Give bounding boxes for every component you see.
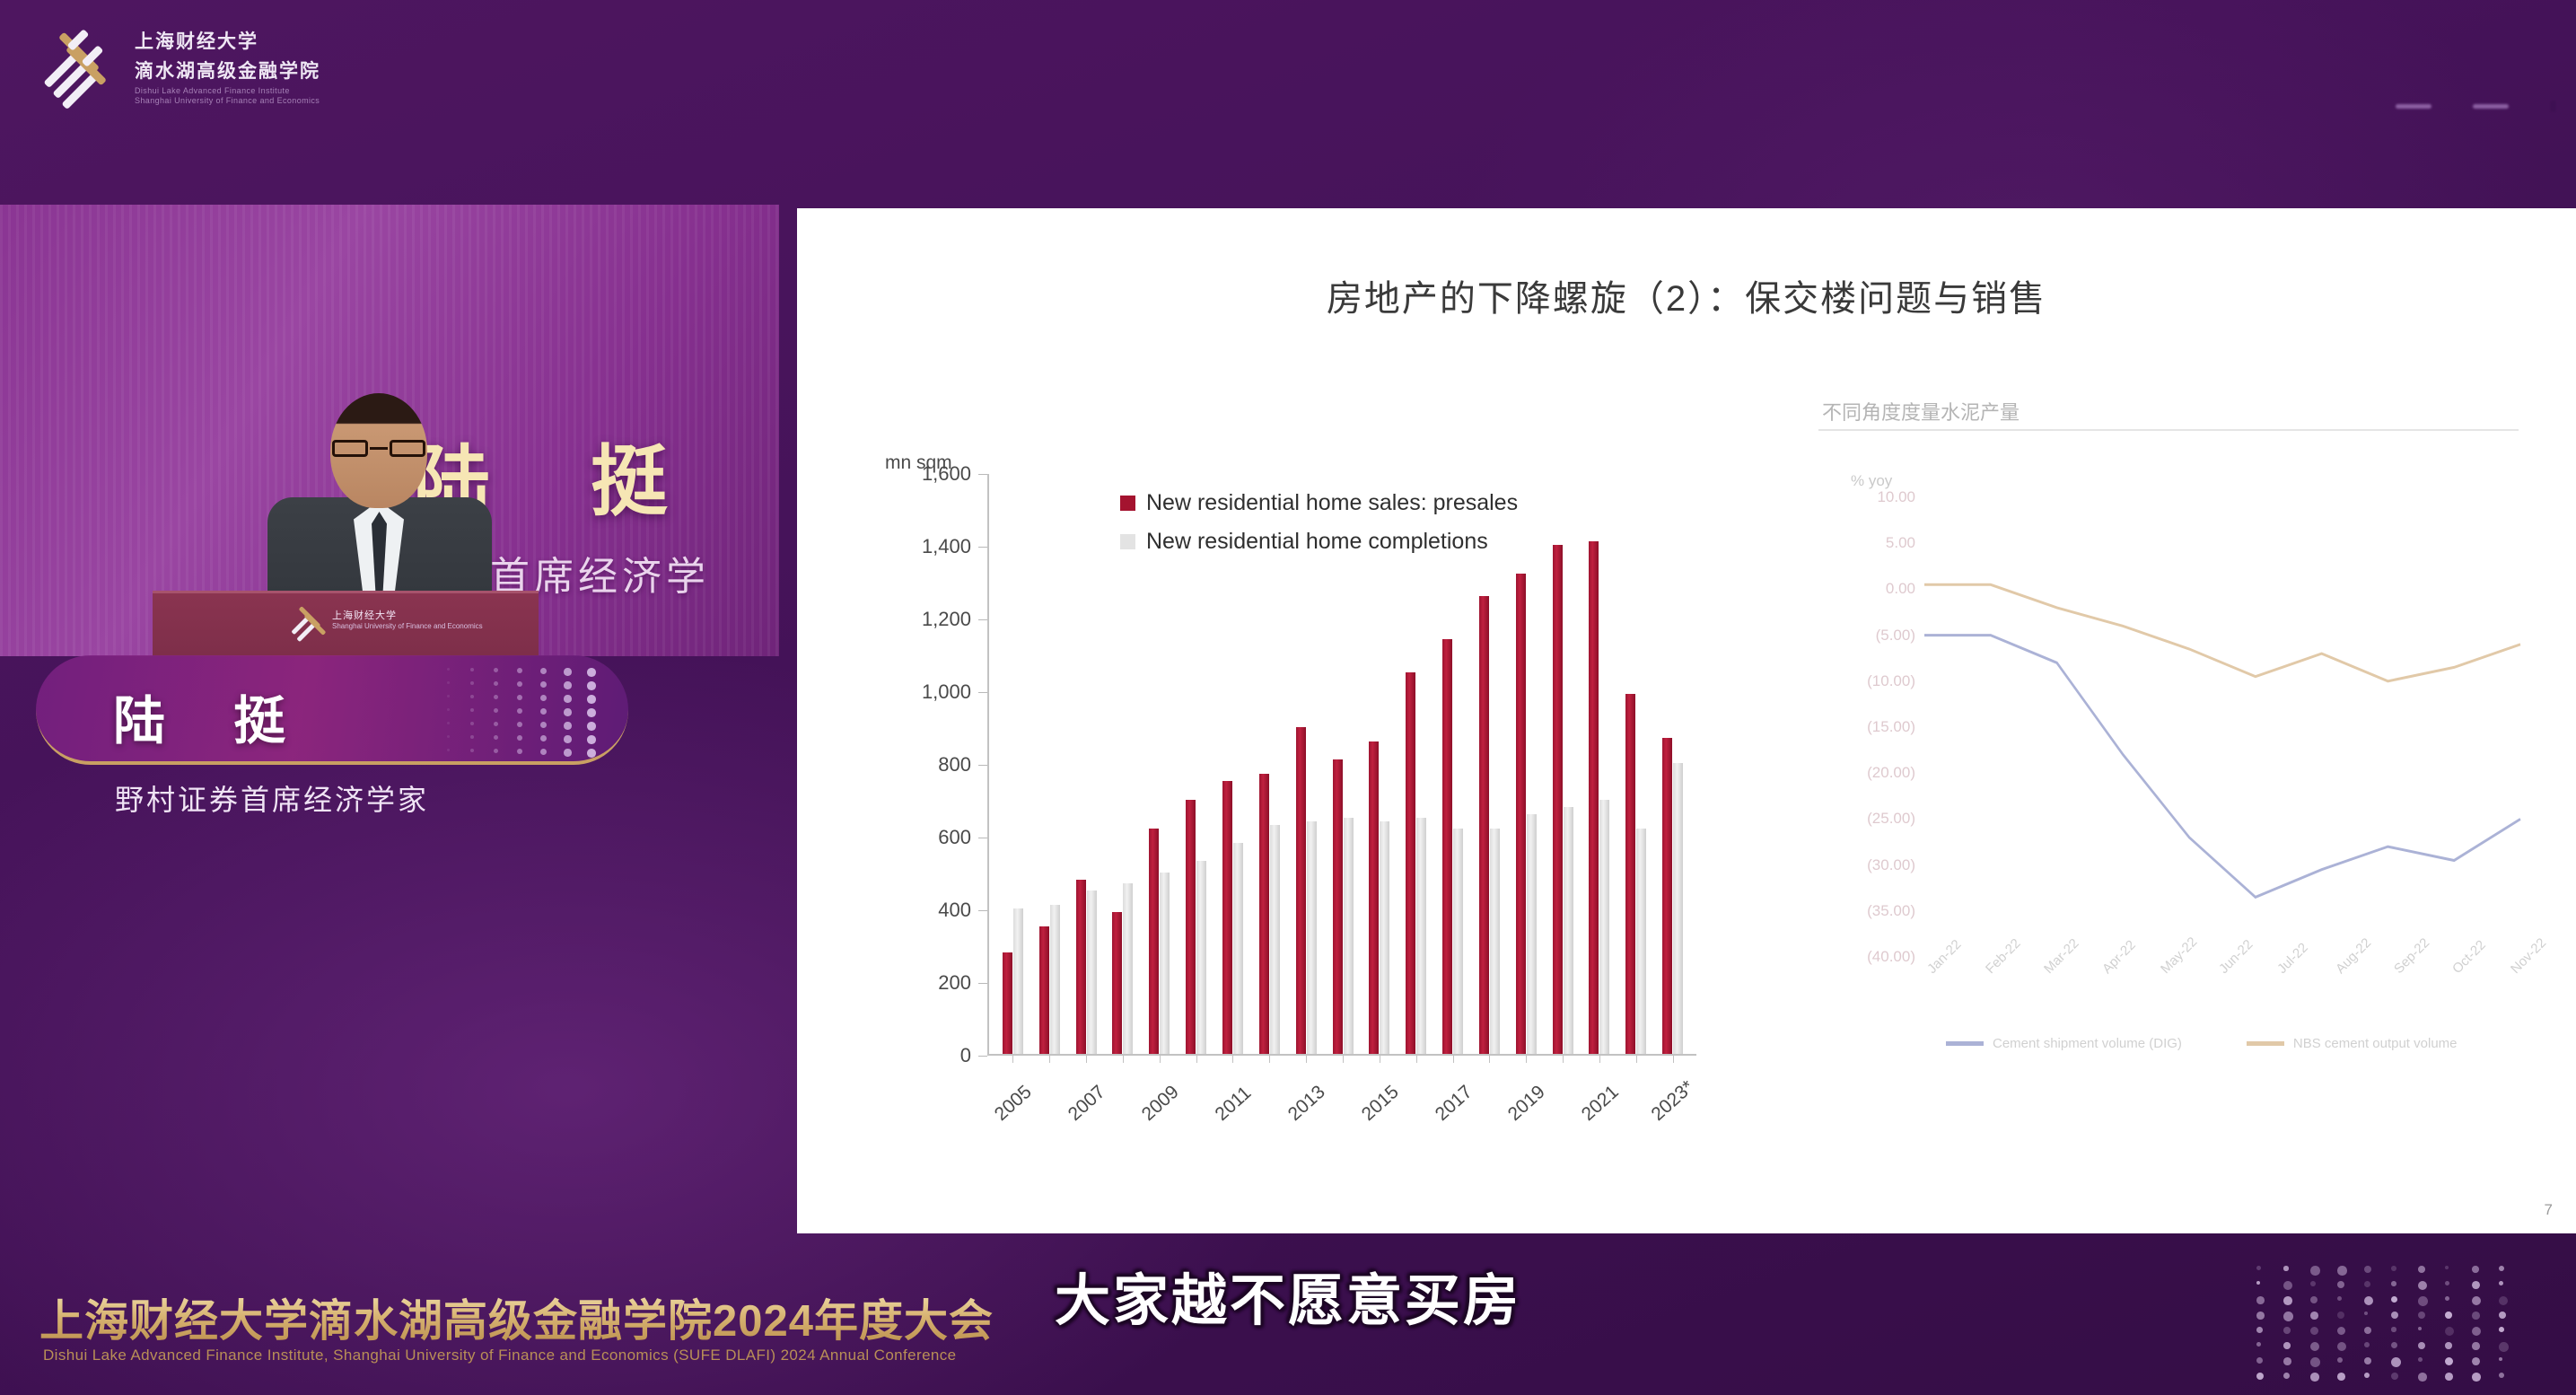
bar-completions bbox=[1344, 818, 1354, 1054]
podium: 上海财经大学 Shanghai University of Finance an… bbox=[153, 591, 539, 656]
decorative-dot bbox=[2445, 1327, 2454, 1336]
decorative-dot bbox=[494, 749, 498, 753]
bar-chart-x-tick-label: 2013 bbox=[1284, 1082, 1330, 1126]
line-chart-y-tick: 5.00 bbox=[1811, 534, 1915, 552]
glasses-icon bbox=[332, 440, 425, 458]
line-legend-swatch-shipment bbox=[1946, 1041, 1984, 1046]
line-chart-y-tick: (35.00) bbox=[1811, 902, 1915, 920]
line-chart-y-unit: % yoy bbox=[1851, 472, 1892, 490]
slide-page-number: 7 bbox=[2545, 1201, 2553, 1219]
decorative-dot bbox=[2364, 1296, 2373, 1305]
decorative-dot bbox=[2337, 1296, 2342, 1301]
decorative-dot bbox=[2472, 1342, 2480, 1350]
decorative-dot bbox=[2445, 1281, 2449, 1285]
decorative-dot bbox=[494, 722, 498, 726]
decorative-dot bbox=[2472, 1266, 2479, 1273]
line-chart-plot-area bbox=[1924, 497, 2520, 957]
decorative-dot bbox=[517, 695, 522, 700]
decorative-dot bbox=[2364, 1327, 2371, 1334]
line-chart-y-tick: (15.00) bbox=[1811, 718, 1915, 736]
decorative-dot bbox=[2445, 1342, 2452, 1349]
decorative-dot bbox=[517, 681, 522, 687]
bar-group: 2007 bbox=[1068, 474, 1105, 1054]
line-chart-y-tick: (5.00) bbox=[1811, 627, 1915, 645]
bar-chart-x-tick-label: 2005 bbox=[991, 1082, 1037, 1126]
bar-chart-x-tickmark bbox=[1489, 1055, 1490, 1063]
decorative-dot bbox=[2445, 1357, 2453, 1365]
mark-dash-2 bbox=[2473, 104, 2509, 109]
bar-chart-x-tick-label: 2007 bbox=[1065, 1082, 1110, 1126]
decorative-dot bbox=[2256, 1342, 2261, 1347]
line-chart-y-tick: (25.00) bbox=[1811, 810, 1915, 828]
decorative-dot bbox=[587, 695, 596, 704]
bar-chart-y-tick: 1,400 bbox=[860, 535, 971, 558]
decorative-top-right-marks bbox=[2396, 101, 2556, 112]
bar-chart-x-tick-label: 2011 bbox=[1212, 1083, 1257, 1126]
decorative-dot bbox=[2256, 1296, 2265, 1304]
residential-sales-bar-chart: mn sqm New residential home sales: presa… bbox=[860, 474, 1704, 1138]
bar-chart-x-tickmark bbox=[1416, 1055, 1417, 1063]
decorative-dot bbox=[2283, 1281, 2292, 1290]
decorative-dot bbox=[2418, 1281, 2427, 1290]
mark-tick bbox=[2550, 101, 2556, 112]
bar-completions bbox=[1453, 829, 1463, 1054]
decorative-dot bbox=[2391, 1357, 2401, 1367]
decorative-dot bbox=[2283, 1357, 2291, 1365]
bar-presales bbox=[1039, 926, 1049, 1054]
decorative-dot bbox=[564, 708, 572, 716]
decorative-dot bbox=[2364, 1342, 2370, 1347]
bar-chart-x-tick-label: 2021 bbox=[1578, 1082, 1624, 1126]
bar-chart-y-tick: 1,200 bbox=[860, 608, 971, 631]
bar-completions bbox=[1380, 821, 1389, 1054]
decorative-dot bbox=[447, 749, 450, 751]
bar-chart-x-tickmark bbox=[1380, 1055, 1380, 1063]
bar-chart-x-tickmark bbox=[1673, 1055, 1674, 1063]
bar-presales bbox=[1442, 639, 1452, 1054]
decorative-dot bbox=[2499, 1312, 2506, 1319]
decorative-dot bbox=[2364, 1312, 2368, 1315]
bar-presales bbox=[1076, 880, 1086, 1054]
decorative-dot bbox=[2499, 1342, 2509, 1352]
bar-chart-bars: 2005200720092011201320152017201920212023… bbox=[989, 474, 1696, 1054]
podium-logo-en: Shanghai University of Finance and Econo… bbox=[332, 622, 494, 630]
decorative-dot bbox=[2337, 1281, 2344, 1288]
bar-chart-y-tickmark bbox=[978, 910, 987, 911]
decorative-dot bbox=[2391, 1342, 2397, 1348]
bar-completions bbox=[1233, 843, 1243, 1054]
line-chart-y-tick: 0.00 bbox=[1811, 580, 1915, 598]
decorative-dot bbox=[2283, 1327, 2291, 1334]
decorative-dot bbox=[2337, 1312, 2344, 1319]
bar-chart-x-tickmark bbox=[1012, 1055, 1013, 1063]
decorative-dot bbox=[587, 749, 596, 758]
decorative-dot bbox=[2499, 1296, 2508, 1305]
decorative-dot bbox=[2283, 1266, 2289, 1271]
bar-completions bbox=[1673, 763, 1683, 1054]
bar-chart-y-tick: 400 bbox=[860, 899, 971, 922]
presentation-slide[interactable]: 房地产的下降螺旋（2）：保交楼问题与销售 7 mn sqm New reside… bbox=[797, 208, 2576, 1233]
bar-chart-x-tickmark bbox=[1160, 1055, 1161, 1063]
line-chart-title-rule bbox=[1818, 429, 2519, 431]
bar-completions bbox=[1270, 825, 1280, 1054]
decorative-dot bbox=[2418, 1327, 2422, 1330]
bar-group bbox=[1617, 474, 1654, 1054]
bar-chart-x-tick-label: 2009 bbox=[1138, 1082, 1184, 1126]
bar-group: 2009 bbox=[1141, 474, 1178, 1054]
decorative-dot bbox=[2445, 1266, 2449, 1269]
decorative-dot bbox=[494, 668, 498, 672]
decorative-dot bbox=[2472, 1312, 2480, 1320]
nameplate-speaker-name: 陆 挺 bbox=[113, 679, 312, 754]
decorative-dot bbox=[2391, 1312, 2398, 1319]
decorative-dot bbox=[2310, 1266, 2320, 1276]
decorative-dot bbox=[517, 735, 522, 741]
line-chart-y-tick: (20.00) bbox=[1811, 764, 1915, 782]
decorative-dot bbox=[2472, 1296, 2481, 1305]
decorative-dot bbox=[2364, 1281, 2370, 1287]
lower-third-nameplate: 陆 挺 野村证券首席经济学家 bbox=[36, 655, 628, 817]
institute-logo: 上海财经大学 滴水湖高级金融学院 Dishui Lake Advanced Fi… bbox=[36, 27, 320, 107]
bar-group: 2005 bbox=[994, 474, 1031, 1054]
bar-completions bbox=[1160, 873, 1170, 1055]
line-legend-swatch-nbs bbox=[2247, 1041, 2284, 1046]
podium-logo-text: 上海财经大学 Shanghai University of Finance an… bbox=[332, 608, 494, 630]
decorative-dot bbox=[2418, 1296, 2428, 1306]
bar-presales bbox=[1296, 727, 1306, 1055]
bar-group bbox=[1398, 474, 1434, 1054]
bar-chart-y-tick: 800 bbox=[860, 753, 971, 776]
bar-group bbox=[1105, 474, 1142, 1054]
decorative-dot bbox=[2337, 1266, 2347, 1276]
bar-chart-y-tickmark bbox=[978, 1056, 987, 1057]
bar-completions bbox=[1490, 829, 1500, 1054]
bar-chart-x-tickmark bbox=[1269, 1055, 1270, 1063]
decorative-dot bbox=[2283, 1342, 2291, 1349]
bar-chart-x-tickmark bbox=[1343, 1055, 1344, 1063]
bar-chart-plot-area: 2005200720092011201320152017201920212023… bbox=[987, 474, 1696, 1056]
bar-chart-x-tickmark bbox=[1049, 1055, 1050, 1063]
bar-chart-x-tickmark bbox=[1563, 1055, 1564, 1063]
bar-chart-y-tickmark bbox=[978, 765, 987, 766]
decorative-dot bbox=[2472, 1373, 2481, 1382]
bar-chart-y-tickmark bbox=[978, 838, 987, 838]
conference-banner: 上海财经大学滴水湖高级金融学院2024年度大会 Dishui Lake Adva… bbox=[0, 1264, 2576, 1395]
decorative-dot bbox=[2364, 1357, 2371, 1364]
decorative-dot bbox=[2310, 1281, 2316, 1286]
bar-chart-y-tick: 600 bbox=[860, 826, 971, 849]
banner-title-en: Dishui Lake Advanced Finance Institute, … bbox=[43, 1347, 957, 1364]
bar-presales bbox=[1406, 672, 1415, 1054]
decorative-dot bbox=[2472, 1281, 2480, 1289]
decorative-dot bbox=[2391, 1373, 2398, 1380]
bar-completions bbox=[1087, 891, 1097, 1054]
bar-presales bbox=[1333, 759, 1343, 1054]
bar-completions bbox=[1123, 883, 1133, 1054]
decorative-dot bbox=[2499, 1266, 2504, 1271]
decorative-dot bbox=[2283, 1373, 2290, 1379]
bar-chart-y-tick: 200 bbox=[860, 971, 971, 995]
bar-completions bbox=[1636, 829, 1646, 1054]
decorative-dot bbox=[470, 668, 474, 671]
line-chart-y-tick: (10.00) bbox=[1811, 672, 1915, 690]
speaker-video-pane[interactable]: 陆 挺 证券首席经济学 上海财经大学 Shanghai University o… bbox=[0, 205, 779, 656]
line-chart-y-tick: (30.00) bbox=[1811, 856, 1915, 874]
decorative-dot bbox=[540, 708, 547, 715]
bar-chart-x-tick-label: 2015 bbox=[1358, 1082, 1404, 1126]
decorative-dot bbox=[470, 735, 474, 739]
decorative-dot bbox=[2445, 1373, 2453, 1381]
bar-group bbox=[1325, 474, 1362, 1054]
decorative-dot bbox=[2445, 1296, 2449, 1301]
podium-logo-cn: 上海财经大学 bbox=[332, 608, 494, 622]
decorative-dot bbox=[2283, 1296, 2292, 1305]
decorative-dot bbox=[2418, 1266, 2425, 1273]
decorative-dot bbox=[447, 695, 450, 697]
banner-title-cn: 上海财经大学滴水湖高级金融学院2024年度大会 bbox=[39, 1285, 994, 1349]
decorative-dot bbox=[2472, 1327, 2481, 1336]
bar-presales bbox=[1003, 952, 1012, 1054]
decorative-dot bbox=[2391, 1266, 2396, 1271]
decorative-dot bbox=[2337, 1357, 2343, 1363]
decorative-dot bbox=[540, 681, 547, 688]
decorative-dot bbox=[564, 668, 572, 676]
decorative-dot bbox=[470, 749, 474, 752]
decorative-dot bbox=[2256, 1373, 2264, 1380]
bar-chart-x-tick-label: 2023* bbox=[1647, 1076, 1698, 1126]
decorative-dot bbox=[2499, 1327, 2504, 1332]
bar-group: 2023* bbox=[1654, 474, 1691, 1054]
decorative-dot bbox=[447, 681, 450, 684]
line-chart-y-tick: 10.00 bbox=[1811, 488, 1915, 506]
decorative-dot bbox=[2337, 1327, 2345, 1335]
bar-presales bbox=[1553, 545, 1563, 1054]
decorative-dot bbox=[470, 708, 474, 712]
decorative-dot bbox=[2391, 1281, 2396, 1286]
bar-chart-x-tick-label: 2017 bbox=[1431, 1082, 1476, 1126]
decorative-dot bbox=[2445, 1312, 2452, 1319]
decorative-dot bbox=[470, 681, 474, 685]
banner-dot-pattern bbox=[2253, 1264, 2522, 1390]
bar-chart-x-tickmark bbox=[1123, 1055, 1124, 1063]
decorative-dot bbox=[2499, 1357, 2502, 1361]
decorative-dot bbox=[564, 722, 572, 730]
decorative-dot bbox=[2418, 1373, 2427, 1382]
bar-completions bbox=[1564, 807, 1573, 1054]
bar-presales bbox=[1625, 694, 1635, 1054]
decorative-dot bbox=[540, 749, 547, 755]
decorative-dot bbox=[494, 708, 498, 713]
bar-presales bbox=[1516, 574, 1526, 1054]
bar-completions bbox=[1599, 800, 1609, 1055]
bar-group bbox=[1471, 474, 1508, 1054]
decorative-dot bbox=[447, 668, 450, 671]
decorative-dot bbox=[517, 749, 522, 754]
bar-chart-x-tickmark bbox=[1232, 1055, 1233, 1063]
mark-dash-1 bbox=[2396, 104, 2431, 109]
decorative-dot bbox=[587, 722, 596, 731]
bar-completions bbox=[1196, 861, 1206, 1054]
decorative-dot bbox=[2418, 1342, 2425, 1349]
decorative-dot bbox=[564, 681, 572, 689]
decorative-dot bbox=[494, 735, 498, 740]
bar-chart-y-tickmark bbox=[978, 692, 987, 693]
decorative-dot bbox=[540, 668, 547, 674]
bar-chart-y-tickmark bbox=[978, 619, 987, 620]
bar-group: 2011 bbox=[1214, 474, 1251, 1054]
broadcast-stage: 上海财经大学 滴水湖高级金融学院 Dishui Lake Advanced Fi… bbox=[0, 0, 2576, 1395]
bar-chart-x-tickmark bbox=[1086, 1055, 1087, 1063]
decorative-dot bbox=[447, 722, 450, 724]
bar-group: 2021 bbox=[1582, 474, 1618, 1054]
decorative-dot bbox=[2310, 1312, 2318, 1320]
decorative-dot bbox=[517, 708, 522, 714]
bar-chart-y-tickmark bbox=[978, 983, 987, 984]
bar-presales bbox=[1479, 596, 1489, 1054]
decorative-dot bbox=[2499, 1281, 2503, 1285]
nameplate-speaker-title: 野村证券首席经济学家 bbox=[115, 777, 429, 819]
line-series-cement-shipment bbox=[1924, 636, 2520, 898]
line-legend-label-shipment: Cement shipment volume (DIG) bbox=[1993, 1036, 2182, 1051]
decorative-dot bbox=[540, 735, 547, 741]
decorative-dot bbox=[494, 681, 498, 686]
decorative-dot bbox=[2364, 1373, 2370, 1378]
bar-completions bbox=[1307, 821, 1317, 1054]
nameplate-dot-pattern bbox=[442, 664, 612, 758]
decorative-dot bbox=[587, 668, 596, 677]
bar-presales bbox=[1186, 800, 1196, 1055]
bar-group bbox=[1178, 474, 1214, 1054]
bar-chart-x-tickmark bbox=[1306, 1055, 1307, 1063]
decorative-dot bbox=[564, 695, 572, 703]
decorative-dot bbox=[2337, 1342, 2346, 1351]
decorative-dot bbox=[2310, 1296, 2318, 1303]
bar-presales bbox=[1222, 781, 1232, 1054]
line-legend-label-nbs: NBS cement output volume bbox=[2293, 1036, 2458, 1051]
decorative-dot bbox=[447, 708, 450, 711]
bar-chart-y-tickmark bbox=[978, 474, 987, 475]
bar-group bbox=[1031, 474, 1068, 1054]
line-chart-legend: Cement shipment volume (DIG) NBS cement … bbox=[1946, 1036, 2458, 1051]
bar-completions bbox=[1050, 905, 1060, 1054]
decorative-dot bbox=[2418, 1312, 2425, 1319]
bar-chart-x-tickmark bbox=[1526, 1055, 1527, 1063]
logo-text-line1: 上海财经大学 bbox=[135, 27, 320, 54]
decorative-dot bbox=[2256, 1266, 2261, 1270]
bar-completions bbox=[1527, 814, 1537, 1054]
bar-presales bbox=[1112, 912, 1122, 1054]
bar-chart-x-tickmark bbox=[1599, 1055, 1600, 1063]
decorative-dot bbox=[447, 735, 450, 738]
bar-presales bbox=[1589, 541, 1599, 1054]
bar-chart-x-tickmark bbox=[1196, 1055, 1197, 1063]
bar-chart-x-tick-label: 2019 bbox=[1504, 1082, 1550, 1126]
decorative-dot bbox=[470, 695, 474, 698]
bar-group: 2013 bbox=[1288, 474, 1325, 1054]
decorative-dot bbox=[564, 749, 572, 757]
decorative-dot bbox=[2391, 1327, 2396, 1332]
decorative-dot bbox=[2256, 1357, 2263, 1364]
bar-presales bbox=[1369, 741, 1379, 1054]
bar-presales bbox=[1149, 829, 1159, 1054]
decorative-dot bbox=[494, 695, 498, 699]
line-chart-title: 不同角度度量水泥产量 bbox=[1822, 397, 2020, 426]
decorative-dot bbox=[587, 681, 596, 690]
bar-group bbox=[1545, 474, 1582, 1054]
bar-presales bbox=[1662, 738, 1672, 1054]
decorative-dot bbox=[2418, 1357, 2423, 1362]
decorative-dot bbox=[2256, 1327, 2263, 1333]
decorative-dot bbox=[517, 668, 522, 673]
bar-group bbox=[1251, 474, 1288, 1054]
decorative-dot bbox=[587, 708, 596, 717]
line-legend-item-nbs: NBS cement output volume bbox=[2247, 1036, 2458, 1051]
decorative-dot bbox=[2310, 1373, 2319, 1382]
decorative-dot bbox=[2337, 1373, 2345, 1381]
decorative-dot bbox=[587, 735, 596, 744]
decorative-dot bbox=[2310, 1327, 2318, 1335]
decorative-dot bbox=[2310, 1342, 2319, 1351]
bar-chart-y-tickmark bbox=[978, 547, 987, 548]
logo-mark-icon bbox=[36, 29, 111, 104]
decorative-dot bbox=[2256, 1281, 2260, 1285]
cement-output-line-chart: 不同角度度量水泥产量 % yoy 10.005.000.00(5.00)(10.… bbox=[1811, 397, 2529, 1142]
line-series-nbs-output bbox=[1924, 584, 2520, 681]
bar-chart-y-tick: 0 bbox=[860, 1044, 971, 1067]
line-legend-item-shipment: Cement shipment volume (DIG) bbox=[1946, 1036, 2182, 1051]
bar-group: 2017 bbox=[1434, 474, 1471, 1054]
slide-title: 房地产的下降螺旋（2）：保交楼问题与销售 bbox=[797, 269, 2576, 321]
decorative-dot bbox=[517, 722, 522, 727]
decorative-dot bbox=[2499, 1373, 2504, 1378]
bar-chart-x-tickmark bbox=[1636, 1055, 1637, 1063]
bar-presales bbox=[1259, 774, 1269, 1054]
bar-completions bbox=[1013, 908, 1023, 1054]
logo-text-line2: 滴水湖高级金融学院 bbox=[135, 57, 320, 83]
bar-chart-y-tick: 1,000 bbox=[860, 680, 971, 704]
bar-group: 2015 bbox=[1361, 474, 1398, 1054]
decorative-dot bbox=[540, 695, 547, 701]
decorative-dot bbox=[2256, 1312, 2265, 1320]
podium-logo-icon bbox=[287, 604, 327, 644]
decorative-dot bbox=[2364, 1266, 2371, 1273]
line-chart-svg bbox=[1924, 497, 2520, 957]
decorative-dot bbox=[470, 722, 474, 725]
bar-chart-x-tickmark bbox=[1453, 1055, 1454, 1063]
logo-text-english: Dishui Lake Advanced Finance Institute S… bbox=[135, 86, 320, 107]
line-chart-y-tick: (40.00) bbox=[1811, 948, 1915, 966]
decorative-dot bbox=[564, 735, 572, 743]
decorative-dot bbox=[2391, 1296, 2397, 1303]
bar-chart-y-tick: 1,600 bbox=[860, 462, 971, 486]
decorative-dot bbox=[2283, 1312, 2293, 1321]
decorative-dot bbox=[540, 722, 547, 728]
bar-group: 2019 bbox=[1508, 474, 1545, 1054]
decorative-dot bbox=[2472, 1357, 2480, 1365]
decorative-dot bbox=[2310, 1357, 2320, 1367]
bar-completions bbox=[1416, 818, 1426, 1054]
